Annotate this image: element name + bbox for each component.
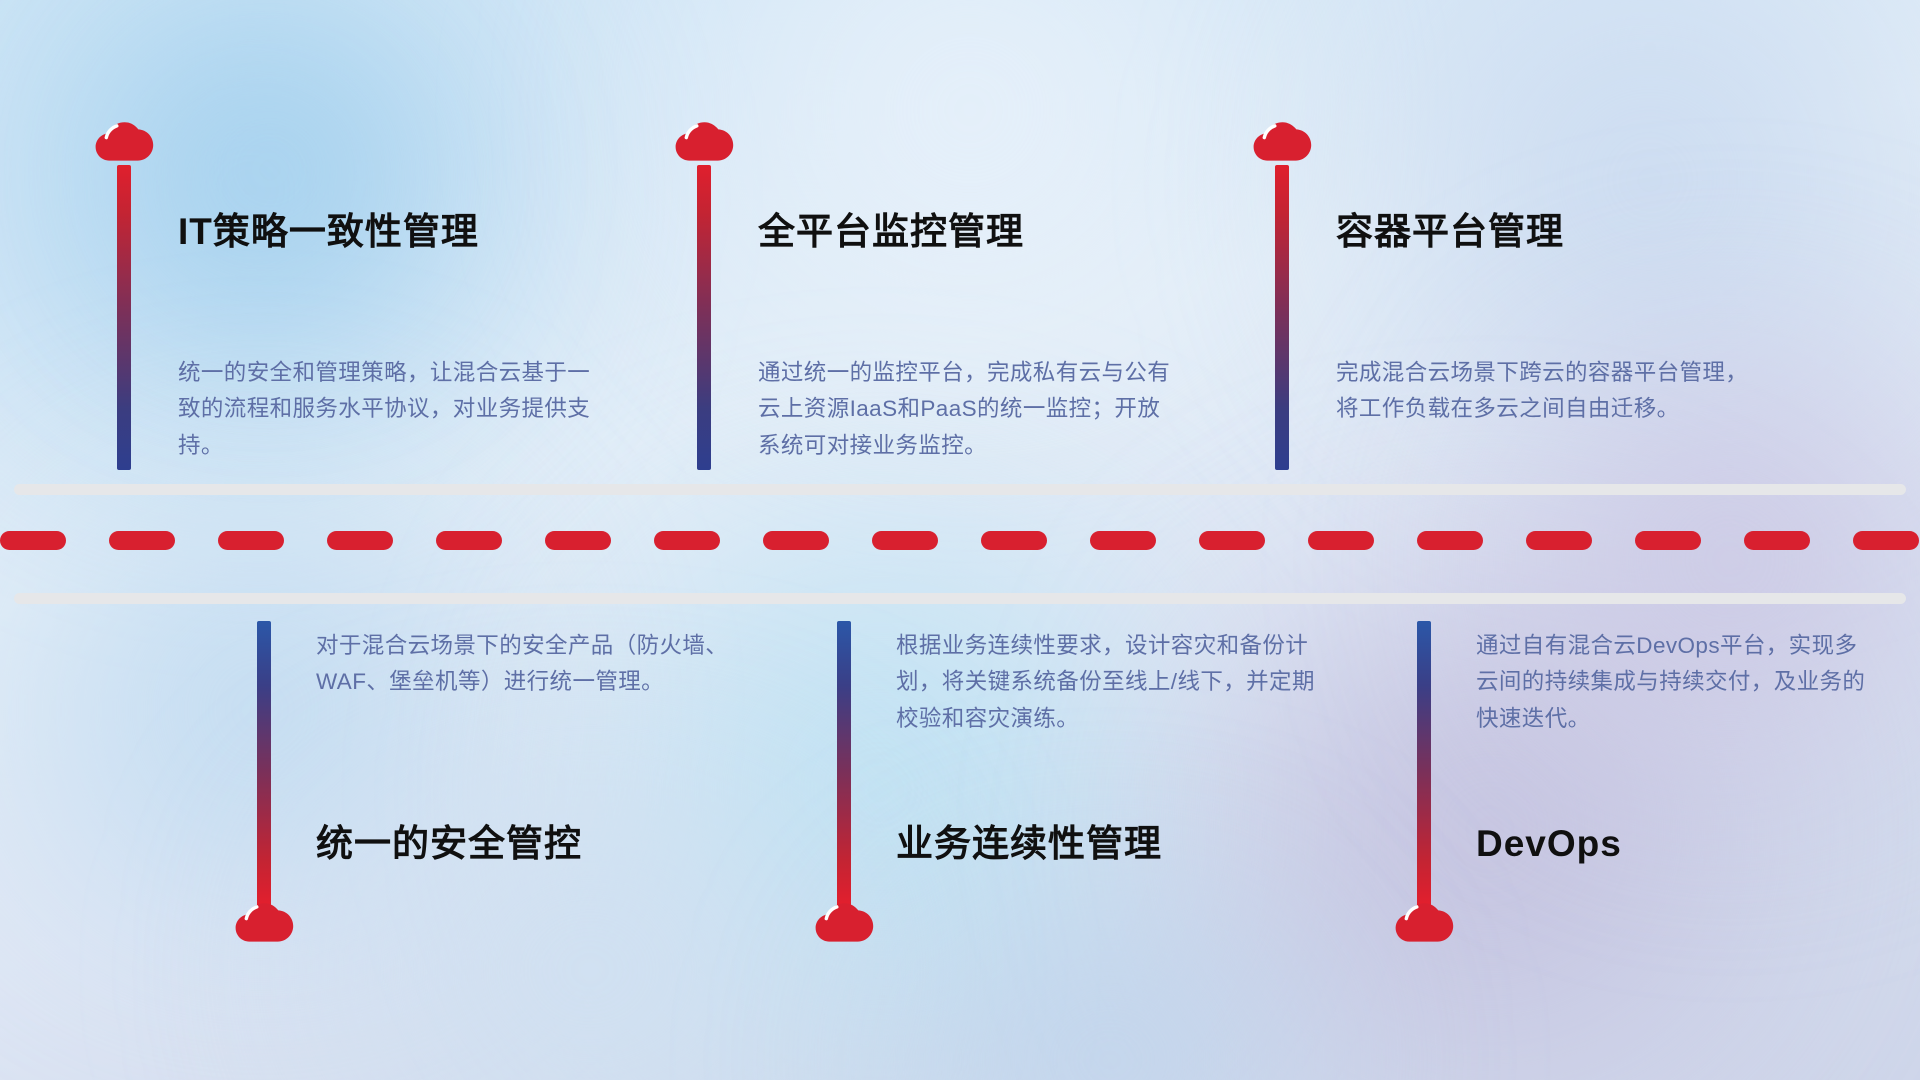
dash-segment	[218, 531, 284, 550]
dash-segment	[0, 531, 66, 550]
cloud-icon	[233, 901, 295, 949]
dash-segment	[436, 531, 502, 550]
stem-gradient	[117, 165, 131, 470]
dash-segment	[1090, 531, 1156, 550]
stem-gradient	[697, 165, 711, 470]
dash-segment	[1199, 531, 1265, 550]
bottom-heading-3: DevOps	[1476, 824, 1622, 865]
dash-segment	[545, 531, 611, 550]
top-column-3: 容器平台管理 完成混合云场景下跨云的容器平台管理，将工作负载在多云之间自由迁移。	[1158, 0, 1858, 484]
stem-gradient	[1417, 621, 1431, 913]
top-body-3: 完成混合云场景下跨云的容器平台管理，将工作负载在多云之间自由迁移。	[1336, 355, 1756, 428]
top-body-2: 通过统一的监控平台，完成私有云与公有云上资源IaaS和PaaS的统一监控；开放系…	[758, 355, 1178, 464]
top-heading-2: 全平台监控管理	[758, 212, 1024, 253]
dash-segment	[1853, 531, 1919, 550]
dash-segment	[763, 531, 829, 550]
cloud-icon	[1393, 901, 1455, 949]
cloud-icon	[673, 120, 735, 168]
dash-segment	[327, 531, 393, 550]
bottom-heading-2: 业务连续性管理	[896, 824, 1162, 865]
lower-rail	[14, 593, 1906, 604]
top-heading-3: 容器平台管理	[1336, 212, 1564, 253]
dash-segment	[1308, 531, 1374, 550]
dash-segment	[1744, 531, 1810, 550]
top-heading-1: IT策略一致性管理	[178, 212, 479, 253]
cloud-icon	[93, 120, 155, 168]
stem-gradient	[257, 621, 271, 913]
dash-segment	[1417, 531, 1483, 550]
stem-gradient	[837, 621, 851, 913]
dash-segment	[872, 531, 938, 550]
dash-segment	[981, 531, 1047, 550]
top-body-1: 统一的安全和管理策略，让混合云基于一致的流程和服务水平协议，对业务提供支持。	[178, 355, 598, 464]
cloud-icon	[1251, 120, 1313, 168]
dash-segment	[109, 531, 175, 550]
dash-segment	[1526, 531, 1592, 550]
bottom-heading-1: 统一的安全管控	[316, 824, 582, 865]
divider-band	[0, 484, 1920, 604]
top-column-1: IT策略一致性管理 统一的安全和管理策略，让混合云基于一致的流程和服务水平协议，…	[0, 0, 640, 484]
cloud-icon	[813, 901, 875, 949]
bottom-body-3: 通过自有混合云DevOps平台，实现多云间的持续集成与持续交付，及业务的快速迭代…	[1476, 628, 1876, 737]
dash-segment	[654, 531, 720, 550]
stem-gradient	[1275, 165, 1289, 470]
red-dashed-line	[0, 531, 1920, 550]
upper-rail	[14, 484, 1906, 495]
dash-segment	[1635, 531, 1701, 550]
top-column-2: 全平台监控管理 通过统一的监控平台，完成私有云与公有云上资源IaaS和PaaS的…	[580, 0, 1220, 484]
bottom-column-3: 通过自有混合云DevOps平台，实现多云间的持续集成与持续交付，及业务的快速迭代…	[1160, 604, 1920, 1080]
